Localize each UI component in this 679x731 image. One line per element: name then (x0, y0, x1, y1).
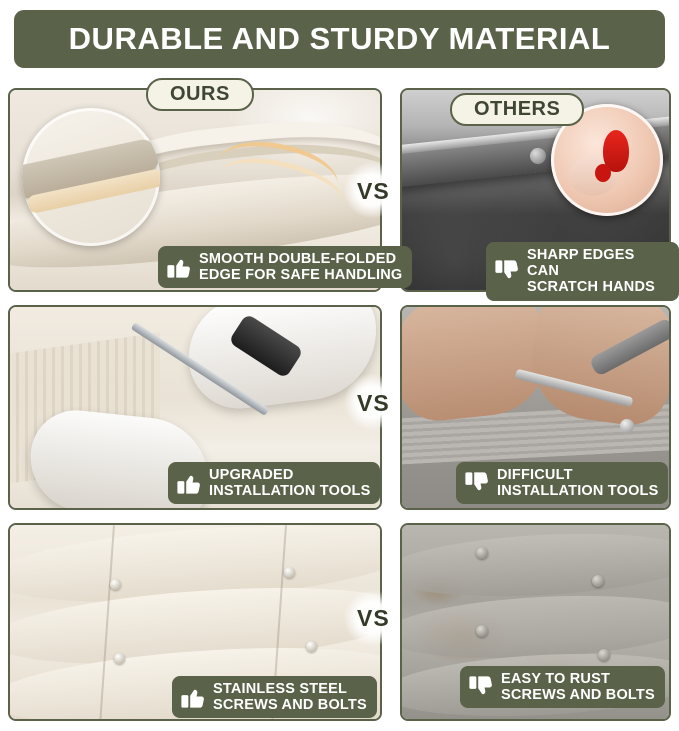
rusty-bolt (598, 649, 610, 661)
rusty-bolt (476, 547, 488, 559)
thumbs-up-icon (176, 470, 202, 496)
caption-text: UPGRADED INSTALLATION TOOLS (209, 467, 370, 499)
vs-badge-row-2: VS (357, 390, 390, 417)
stainless-bolt (114, 653, 125, 664)
caption-ours-edge-safety: SMOOTH DOUBLE-FOLDED EDGE FOR SAFE HANDL… (158, 246, 412, 288)
caption-ours-installation-tools: UPGRADED INSTALLATION TOOLS (168, 462, 380, 504)
caption-others-screws: EASY TO RUST SCREWS AND BOLTS (460, 666, 665, 708)
label-others: OTHERS (450, 93, 584, 126)
caption-text: STAINLESS STEEL SCREWS AND BOLTS (213, 681, 367, 713)
corrugation-shape (400, 589, 671, 666)
rusty-bolt (476, 625, 488, 637)
magnifier-inset-smooth-edge (22, 108, 160, 246)
stainless-bolt (110, 579, 121, 590)
caption-others-sharp-edge: SHARP EDGES CAN SCRATCH HANDS (486, 242, 679, 301)
rusty-bolt (592, 575, 604, 587)
caption-text: SMOOTH DOUBLE-FOLDED EDGE FOR SAFE HANDL… (199, 251, 402, 283)
page-title: DURABLE AND STURDY MATERIAL (69, 21, 611, 57)
vs-badge-row-3: VS (357, 605, 390, 632)
stainless-bolt (284, 567, 295, 578)
thumbs-down-icon (464, 470, 490, 496)
blood-smear-shape (595, 164, 611, 182)
vs-badge-row-1: VS (357, 178, 390, 205)
screw-head-shape (620, 419, 634, 433)
thumbs-up-icon (180, 684, 206, 710)
caption-text: EASY TO RUST SCREWS AND BOLTS (501, 671, 655, 703)
caption-text: DIFFICULT INSTALLATION TOOLS (497, 467, 658, 499)
header-banner: DURABLE AND STURDY MATERIAL (14, 10, 665, 68)
label-ours: OURS (146, 78, 254, 111)
caption-text: SHARP EDGES CAN SCRATCH HANDS (527, 247, 669, 296)
bare-hand-left-shape (400, 305, 552, 425)
thumbs-up-icon (166, 254, 192, 280)
thumbs-down-icon (468, 674, 494, 700)
stainless-bolt (306, 641, 317, 652)
caption-others-installation-tools: DIFFICULT INSTALLATION TOOLS (456, 462, 668, 504)
comparison-infographic: DURABLE AND STURDY MATERIAL (0, 0, 679, 731)
caption-ours-screws: STAINLESS STEEL SCREWS AND BOLTS (172, 676, 377, 718)
thumbs-down-icon (494, 258, 520, 284)
corrugation-shape (400, 527, 671, 604)
